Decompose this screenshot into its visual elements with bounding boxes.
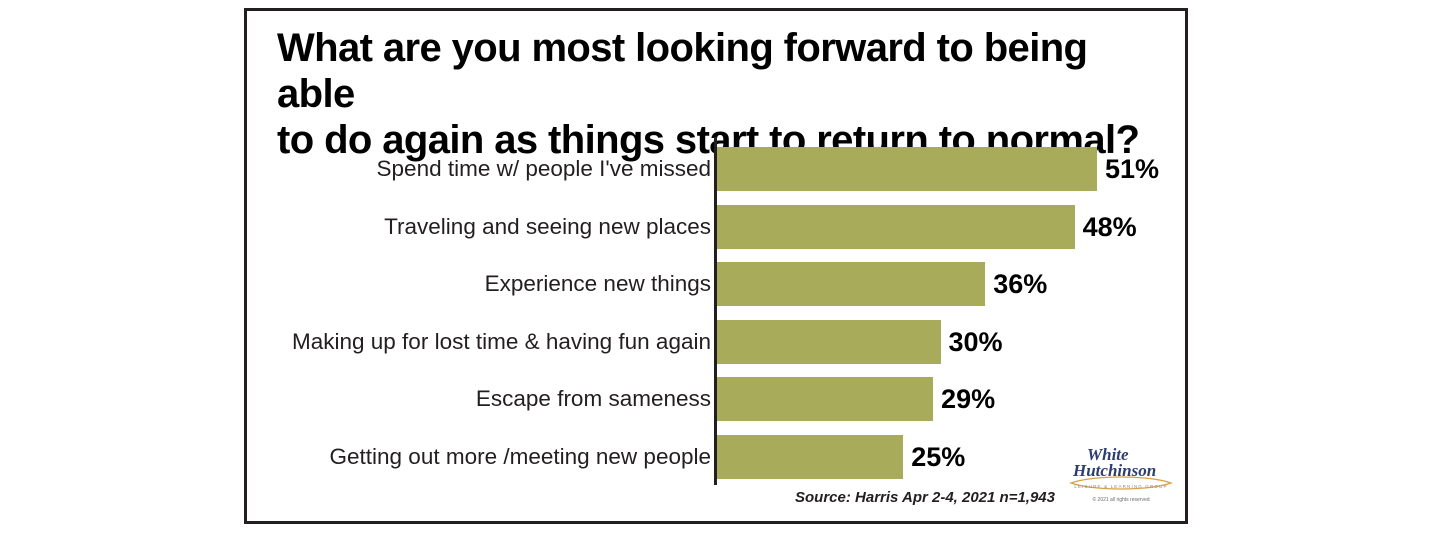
value-label: 29% — [941, 377, 995, 421]
source-note: Source: Harris Apr 2-4, 2021 n=1,943 — [795, 489, 1055, 506]
white-hutchinson-logo: White Hutchinson LEISURE & LEARNING GROU… — [1065, 441, 1177, 513]
bar-row: Experience new things 36% — [247, 262, 1185, 306]
chart-title-line-1: What are you most looking forward to bei… — [277, 25, 1161, 117]
svg-text:LEISURE & LEARNING GROUP: LEISURE & LEARNING GROUP — [1074, 484, 1167, 489]
category-label: Making up for lost time & having fun aga… — [292, 320, 711, 364]
svg-text:© 2021 all rights reserved: © 2021 all rights reserved — [1092, 496, 1149, 503]
category-label: Getting out more /meeting new people — [330, 435, 711, 479]
value-label: 48% — [1083, 205, 1137, 249]
bar — [717, 205, 1075, 249]
bar-row: Making up for lost time & having fun aga… — [247, 320, 1185, 364]
value-label: 51% — [1105, 147, 1159, 191]
value-label: 25% — [911, 435, 965, 479]
plot-area: Spend time w/ people I've missed 51% Tra… — [247, 129, 1185, 489]
bar — [717, 320, 941, 364]
category-label: Escape from sameness — [476, 377, 711, 421]
bar — [717, 377, 933, 421]
value-label: 36% — [993, 262, 1047, 306]
bar-row: Spend time w/ people I've missed 51% — [247, 147, 1185, 191]
category-label: Experience new things — [485, 262, 711, 306]
category-label: Traveling and seeing new places — [384, 205, 711, 249]
value-label: 30% — [949, 320, 1003, 364]
category-label: Spend time w/ people I've missed — [377, 147, 711, 191]
chart-figure: What are you most looking forward to bei… — [244, 8, 1188, 524]
bar — [717, 147, 1097, 191]
bar-row: Getting out more /meeting new people 25% — [247, 435, 1185, 479]
bar — [717, 435, 903, 479]
bar-row: Traveling and seeing new places 48% — [247, 205, 1185, 249]
bar-row: Escape from sameness 29% — [247, 377, 1185, 421]
bar — [717, 262, 985, 306]
